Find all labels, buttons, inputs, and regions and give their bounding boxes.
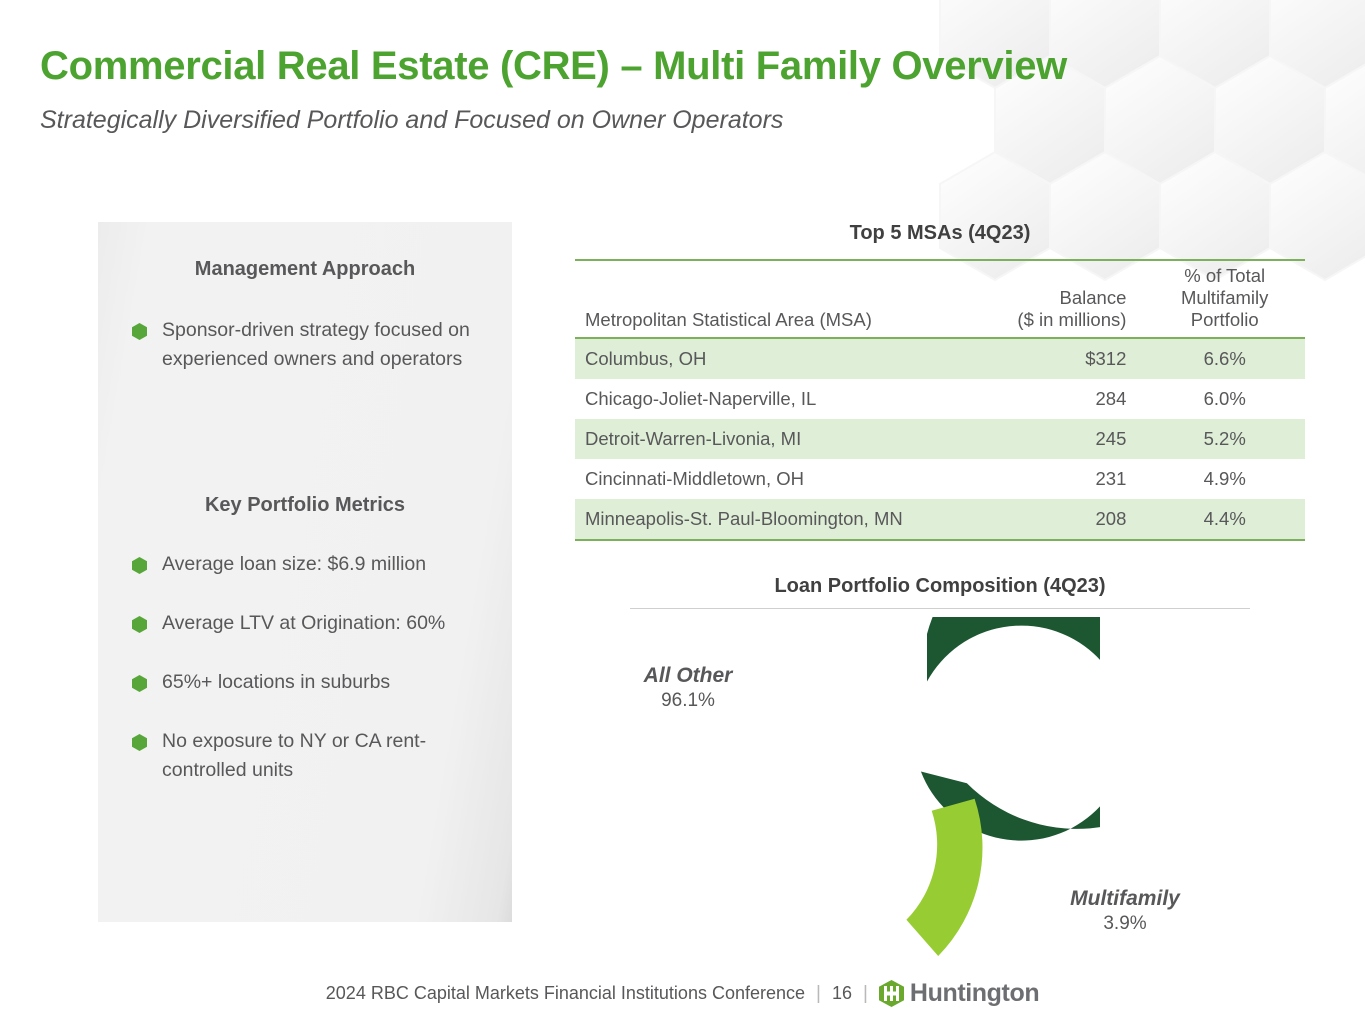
table-row: Columbus, OH $312 6.6% bbox=[575, 338, 1305, 379]
chart-area: All Other 96.1% Multifamily 3.9% bbox=[575, 609, 1305, 969]
cell-msa: Columbus, OH bbox=[575, 338, 984, 379]
key-portfolio-metrics-heading: Key Portfolio Metrics bbox=[98, 494, 512, 517]
right-content-column: Top 5 MSAs (4Q23) Metropolitan Statistic… bbox=[575, 222, 1305, 969]
footer-page-number: 16 bbox=[832, 983, 852, 1004]
column-header-msa: Metropolitan Statistical Area (MSA) bbox=[575, 260, 984, 338]
page-title: Commercial Real Estate (CRE) – Multi Fam… bbox=[40, 44, 1067, 89]
page-subtitle: Strategically Diversified Portfolio and … bbox=[40, 106, 783, 135]
cell-balance: 208 bbox=[984, 499, 1145, 540]
table-row: Chicago-Joliet-Naperville, IL 284 6.0% bbox=[575, 379, 1305, 419]
list-item-label: Sponsor-driven strategy focused on exper… bbox=[162, 319, 470, 370]
list-item-label: Average loan size: $6.9 million bbox=[162, 553, 426, 575]
column-header-balance-line2: ($ in millions) bbox=[994, 309, 1127, 331]
list-item-label: No exposure to NY or CA rent-controlled … bbox=[162, 730, 426, 781]
list-item: Sponsor-driven strategy focused on exper… bbox=[132, 316, 488, 374]
cell-pct: 4.9% bbox=[1144, 459, 1305, 499]
table-row: Minneapolis-St. Paul-Bloomington, MN 208… bbox=[575, 499, 1305, 540]
hexagon-bullet-icon bbox=[132, 323, 147, 340]
table-header-row: Metropolitan Statistical Area (MSA) Bala… bbox=[575, 260, 1305, 338]
left-info-panel: Management Approach Sponsor-driven strat… bbox=[98, 222, 512, 922]
hexagon-bullet-icon bbox=[132, 675, 147, 692]
footer-separator-1: | bbox=[805, 983, 832, 1005]
cell-balance: 284 bbox=[984, 379, 1145, 419]
list-item: Average LTV at Origination: 60% bbox=[132, 609, 488, 638]
table-row: Detroit-Warren-Livonia, MI 245 5.2% bbox=[575, 419, 1305, 459]
cell-balance: 231 bbox=[984, 459, 1145, 499]
management-approach-heading: Management Approach bbox=[98, 258, 512, 281]
column-header-pct-line2: Multifamily Portfolio bbox=[1154, 287, 1295, 331]
huntington-wordmark: Huntington bbox=[910, 979, 1039, 1008]
chart-title: Loan Portfolio Composition (4Q23) bbox=[575, 575, 1305, 598]
column-header-balance: Balance ($ in millions) bbox=[984, 260, 1145, 338]
loan-portfolio-chart-block: Loan Portfolio Composition (4Q23) All Ot… bbox=[575, 575, 1305, 969]
column-header-pct-line1: % of Total bbox=[1154, 265, 1295, 287]
cell-msa: Minneapolis-St. Paul-Bloomington, MN bbox=[575, 499, 984, 540]
pie-label-multifamily: Multifamily 3.9% bbox=[1025, 887, 1225, 935]
table-row: Cincinnati-Middletown, OH 231 4.9% bbox=[575, 459, 1305, 499]
column-header-pct: % of Total Multifamily Portfolio bbox=[1144, 260, 1305, 338]
list-item-label: Average LTV at Origination: 60% bbox=[162, 612, 445, 634]
key-portfolio-metrics-list: Average loan size: $6.9 million Average … bbox=[132, 550, 488, 815]
table-body: Columbus, OH $312 6.6% Chicago-Joliet-Na… bbox=[575, 338, 1305, 540]
list-item: No exposure to NY or CA rent-controlled … bbox=[132, 727, 488, 785]
huntington-logo: Huntington bbox=[879, 979, 1039, 1008]
table-header: Metropolitan Statistical Area (MSA) Bala… bbox=[575, 260, 1305, 338]
pie-label-all-other-name: All Other bbox=[593, 664, 783, 688]
pie-label-multifamily-name: Multifamily bbox=[1025, 887, 1225, 911]
cell-pct: 5.2% bbox=[1144, 419, 1305, 459]
footer-conference-text: 2024 RBC Capital Markets Financial Insti… bbox=[326, 983, 805, 1004]
footer-separator-2: | bbox=[852, 983, 879, 1005]
cell-balance: 245 bbox=[984, 419, 1145, 459]
cell-pct: 6.6% bbox=[1144, 338, 1305, 379]
cell-msa: Detroit-Warren-Livonia, MI bbox=[575, 419, 984, 459]
top-msas-table: Metropolitan Statistical Area (MSA) Bala… bbox=[575, 259, 1305, 541]
column-header-balance-line1: Balance bbox=[994, 287, 1127, 309]
footer: 2024 RBC Capital Markets Financial Insti… bbox=[0, 979, 1365, 1008]
pie-label-multifamily-value: 3.9% bbox=[1025, 913, 1225, 935]
donut-slice-multifamily bbox=[906, 799, 982, 956]
cell-balance: $312 bbox=[984, 338, 1145, 379]
hexagon-bullet-icon bbox=[132, 616, 147, 633]
pie-label-all-other: All Other 96.1% bbox=[593, 664, 783, 712]
pie-label-all-other-value: 96.1% bbox=[593, 690, 783, 712]
cell-msa: Chicago-Joliet-Naperville, IL bbox=[575, 379, 984, 419]
cell-msa: Cincinnati-Middletown, OH bbox=[575, 459, 984, 499]
list-item-label: 65%+ locations in suburbs bbox=[162, 671, 390, 693]
cell-pct: 4.4% bbox=[1144, 499, 1305, 540]
list-item: 65%+ locations in suburbs bbox=[132, 668, 488, 697]
cell-pct: 6.0% bbox=[1144, 379, 1305, 419]
top-msas-title: Top 5 MSAs (4Q23) bbox=[575, 222, 1305, 245]
hexagon-bullet-icon bbox=[132, 557, 147, 574]
hexagon-bullet-icon bbox=[132, 734, 147, 751]
huntington-hexagon-icon bbox=[879, 980, 904, 1007]
donut-slice-multifamily-group bbox=[906, 799, 982, 956]
list-item: Average loan size: $6.9 million bbox=[132, 550, 488, 579]
management-approach-list: Sponsor-driven strategy focused on exper… bbox=[132, 316, 488, 396]
